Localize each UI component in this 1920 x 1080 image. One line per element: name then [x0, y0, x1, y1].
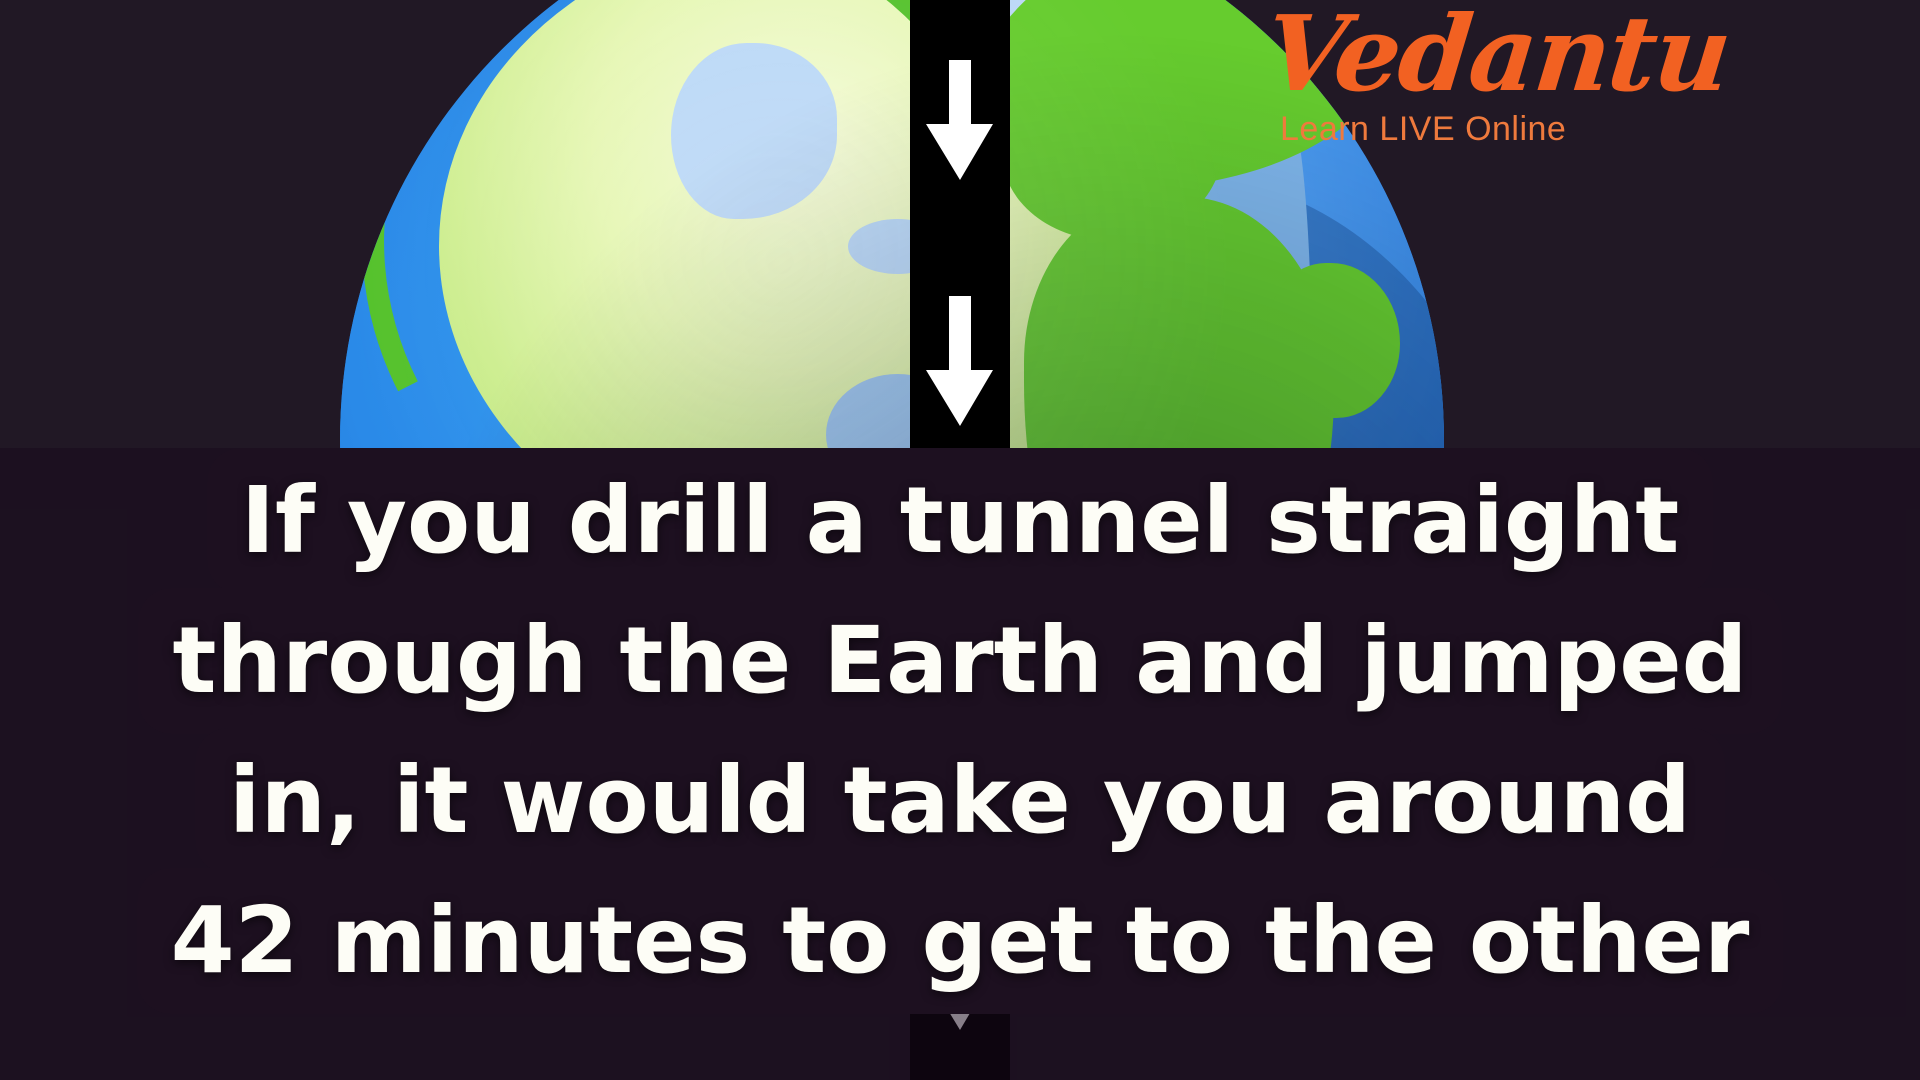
- quote-line: through the Earth and jumped: [138, 588, 1781, 734]
- quote-line-row: in, it would take you around: [0, 728, 1920, 868]
- quote-line: If you drill a tunnel straight: [207, 448, 1713, 594]
- down-arrow-icon: [923, 60, 997, 180]
- quote-line-row: through the Earth and jumped: [0, 588, 1920, 728]
- down-arrow-icon: [923, 296, 997, 426]
- vedantu-logo[interactable]: Vedantu Learn LIVE Online: [1242, 2, 1920, 149]
- vedantu-wordmark: Vedantu: [1261, 2, 1920, 106]
- quote-line: 42 minutes to get to the other: [137, 868, 1784, 1014]
- quote-line-row: 42 minutes to get to the other: [0, 868, 1920, 1008]
- quote-line-row: If you drill a tunnel straight: [0, 448, 1920, 588]
- vedantu-tagline: Learn LIVE Online: [1280, 110, 1920, 149]
- quote-line: in, it would take you around: [195, 728, 1725, 874]
- fact-text-block: If you drill a tunnel straight through t…: [0, 448, 1920, 1080]
- slide-canvas: Vedantu Learn LIVE Online If you drill a…: [0, 0, 1920, 1080]
